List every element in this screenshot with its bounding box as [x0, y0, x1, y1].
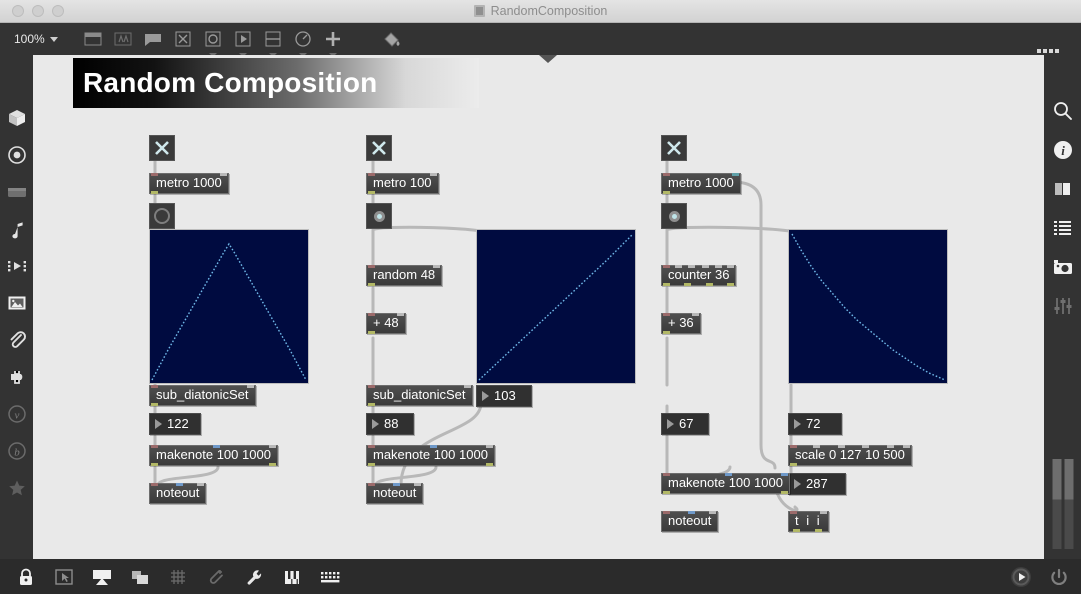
document-icon: [474, 5, 485, 17]
lock-icon[interactable]: [14, 565, 38, 589]
number-box-6[interactable]: 287: [788, 473, 846, 495]
sub-diatonicset-object-2[interactable]: sub_diatonicSet: [366, 385, 473, 406]
noteout-object-3[interactable]: noteout: [661, 511, 718, 532]
number-box-5[interactable]: 72: [788, 413, 842, 435]
grid-icon[interactable]: [166, 565, 190, 589]
max-patcher-window: RandomComposition 100%: [0, 0, 1081, 594]
select-cursor-icon[interactable]: [52, 565, 76, 589]
left-sidebar: v b: [0, 55, 33, 559]
columns-icon[interactable]: [1052, 178, 1074, 200]
page-title: Random Composition: [83, 67, 377, 99]
metro-object-3[interactable]: metro 1000: [661, 173, 741, 194]
plus-object-3[interactable]: + 36: [661, 313, 701, 334]
noteout-object-1[interactable]: noteout: [149, 483, 206, 504]
svg-text:b: b: [14, 447, 20, 459]
slider-tool[interactable]: [262, 28, 284, 50]
zoom-level-dropdown[interactable]: 100%: [8, 30, 64, 48]
toolbar-tools: [82, 28, 402, 50]
toggle-1[interactable]: [149, 135, 175, 161]
add-object-tool[interactable]: [322, 28, 344, 50]
patcher-title-banner: Random Composition: [73, 58, 479, 108]
scope-2[interactable]: [476, 229, 636, 384]
top-toolbar: 100%: [0, 23, 1081, 55]
number-box-2[interactable]: 88: [366, 413, 414, 435]
snap-icon[interactable]: [204, 565, 228, 589]
bpatcher-tool[interactable]: [112, 28, 134, 50]
object-text: sub_diatonicSet: [373, 387, 466, 402]
object-text: metro 1000: [668, 175, 734, 190]
presentation-icon[interactable]: [90, 565, 114, 589]
image-icon[interactable]: [6, 292, 28, 314]
arrange-icon[interactable]: [128, 565, 152, 589]
list-icon[interactable]: [1052, 217, 1074, 239]
object-text: makenote 100 1000: [156, 447, 271, 462]
computer-keyboard-icon[interactable]: [318, 565, 342, 589]
object-text: + 36: [668, 315, 694, 330]
chevron-down-icon: [50, 37, 58, 42]
object-text: noteout: [373, 485, 416, 500]
keyboard-panel-icon[interactable]: [6, 181, 28, 203]
metro-object-2[interactable]: metro 100: [366, 173, 439, 194]
svg-text:v: v: [14, 410, 19, 422]
object-text: noteout: [156, 485, 199, 500]
packages-icon[interactable]: [6, 107, 28, 129]
music-note-icon[interactable]: [6, 218, 28, 240]
number-box-4[interactable]: 67: [661, 413, 709, 435]
number-value: 72: [806, 416, 820, 431]
object-text: random 48: [373, 267, 435, 282]
window-title: RandomComposition: [0, 4, 1081, 18]
object-text: metro 1000: [156, 175, 222, 190]
object-text: metro 100: [373, 175, 432, 190]
number-value: 103: [494, 388, 516, 403]
message-box-tool[interactable]: [142, 28, 164, 50]
vizzie-icon[interactable]: v: [6, 403, 28, 425]
toggle-2[interactable]: [366, 135, 392, 161]
number-value: 88: [384, 416, 398, 431]
vu-meter-left: [1052, 459, 1061, 549]
paperclip-icon[interactable]: [6, 329, 28, 351]
sliders-icon[interactable]: [1052, 295, 1074, 317]
makenote-object-3[interactable]: makenote 100 1000: [661, 473, 790, 494]
bang-object-1[interactable]: [149, 203, 175, 229]
canvas-notch: [539, 55, 557, 63]
toggle-tool[interactable]: [172, 28, 194, 50]
noteout-object-2[interactable]: noteout: [366, 483, 423, 504]
star-icon[interactable]: [6, 477, 28, 499]
counter-object[interactable]: counter 36: [661, 265, 736, 286]
comment-box-tool[interactable]: [82, 28, 104, 50]
bang-object-2[interactable]: [366, 203, 392, 229]
scale-object[interactable]: scale 0 127 10 500: [788, 445, 912, 466]
window-title-text: RandomComposition: [491, 4, 608, 18]
object-text: noteout: [668, 513, 711, 528]
power-icon[interactable]: [1047, 565, 1071, 589]
scope-3[interactable]: [788, 229, 948, 384]
object-text: counter 36: [668, 267, 729, 282]
number-box-3[interactable]: 103: [476, 385, 532, 407]
makenote-object-2[interactable]: makenote 100 1000: [366, 445, 495, 466]
beap-icon[interactable]: b: [6, 440, 28, 462]
wrench-icon[interactable]: [242, 565, 266, 589]
number-value: 67: [679, 416, 693, 431]
info-icon[interactable]: i: [1052, 139, 1074, 161]
trigger-object[interactable]: t i i: [788, 511, 829, 532]
paint-tool[interactable]: [380, 28, 402, 50]
sub-diatonicset-object-1[interactable]: sub_diatonicSet: [149, 385, 256, 406]
audio-power-icon[interactable]: [1009, 565, 1033, 589]
search-icon[interactable]: [1052, 100, 1074, 122]
object-text: makenote 100 1000: [373, 447, 488, 462]
object-text: + 48: [373, 315, 399, 330]
object-text: makenote 100 1000: [668, 475, 783, 490]
title-bar: RandomComposition: [0, 0, 1081, 23]
makenote-object-1[interactable]: makenote 100 1000: [149, 445, 278, 466]
number-box-1[interactable]: 122: [149, 413, 201, 435]
film-icon[interactable]: [6, 255, 28, 277]
dial-tool[interactable]: [292, 28, 314, 50]
random-object[interactable]: random 48: [366, 265, 442, 286]
patcher-canvas[interactable]: Random Composition: [33, 55, 1044, 559]
metro-object-1[interactable]: metro 1000: [149, 173, 229, 194]
vu-meter-right: [1064, 459, 1073, 549]
object-text: scale 0 127 10 500: [795, 447, 905, 462]
plug-icon[interactable]: [6, 366, 28, 388]
object-text: t i i: [795, 513, 822, 528]
svg-text:i: i: [1061, 143, 1065, 158]
toggle-3[interactable]: [661, 135, 687, 161]
bottom-toolbar: [0, 559, 1081, 594]
button-tool[interactable]: [202, 28, 224, 50]
number-value: 122: [167, 416, 189, 431]
bottom-toolbar-right: [1009, 565, 1071, 589]
piano-icon[interactable]: [280, 565, 304, 589]
playback-tool[interactable]: [232, 28, 254, 50]
zoom-level-label: 100%: [14, 32, 45, 46]
bang-object-3[interactable]: [661, 203, 687, 229]
camera-icon[interactable]: [1052, 256, 1074, 278]
object-text: sub_diatonicSet: [156, 387, 249, 402]
number-value: 287: [806, 476, 828, 491]
right-sidebar: i: [1044, 55, 1081, 559]
scope-1[interactable]: [149, 229, 309, 384]
vu-meter: [1052, 459, 1073, 549]
target-icon[interactable]: [6, 144, 28, 166]
plus-object-2[interactable]: + 48: [366, 313, 406, 334]
